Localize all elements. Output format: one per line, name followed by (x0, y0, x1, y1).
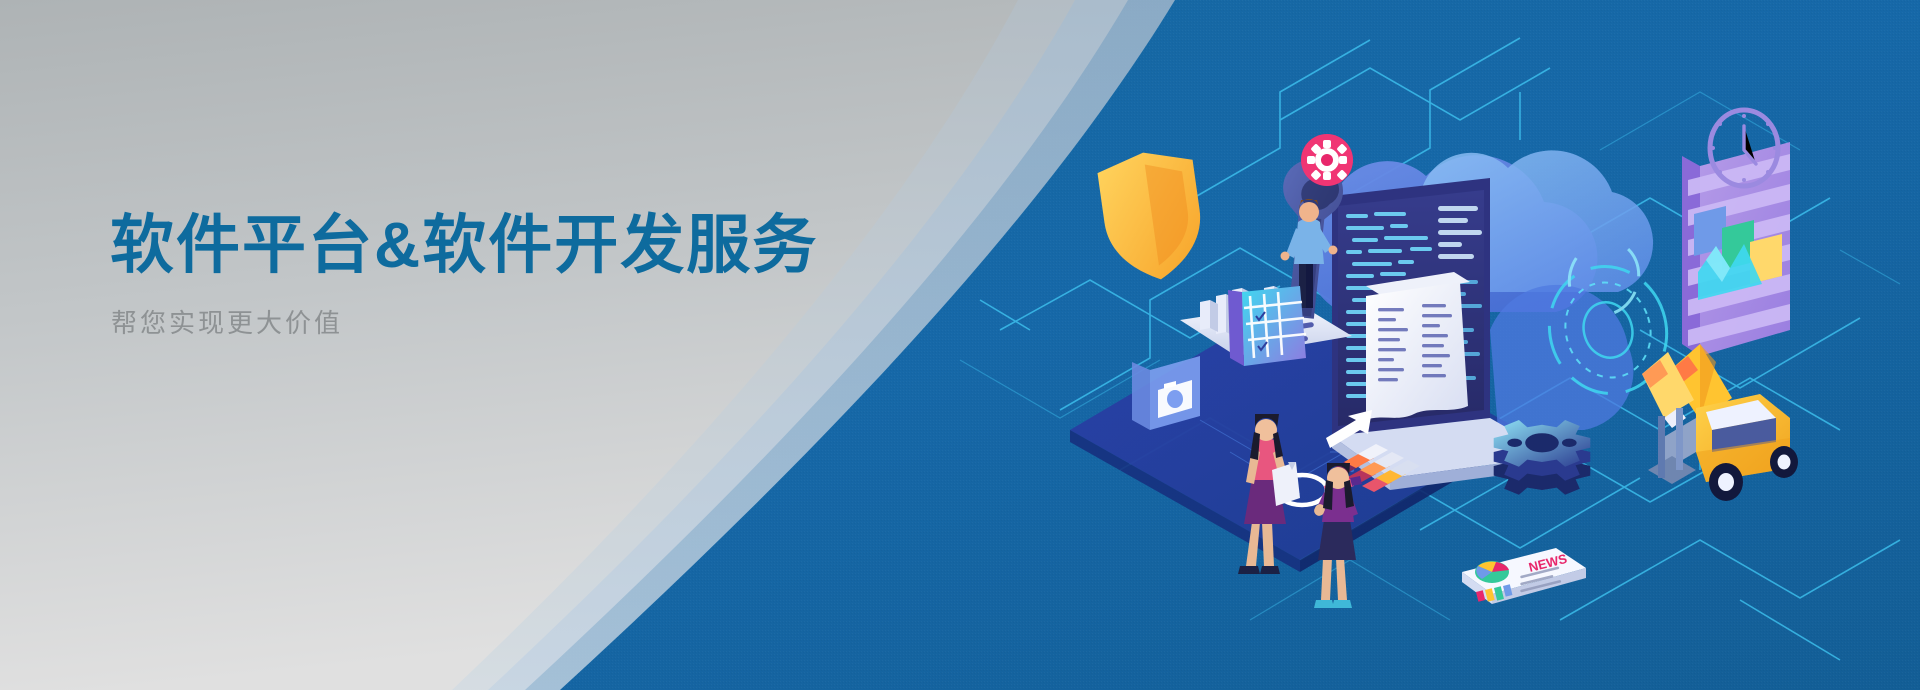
page-title: 软件平台&软件开发服务 (110, 213, 818, 277)
page-subtitle: 帮您实现更大价值 (111, 310, 343, 336)
hero-banner: NEWS (0, 0, 1920, 690)
hero-text-block: 软件平台&软件开发服务 帮您实现更大价值 (0, 0, 900, 690)
